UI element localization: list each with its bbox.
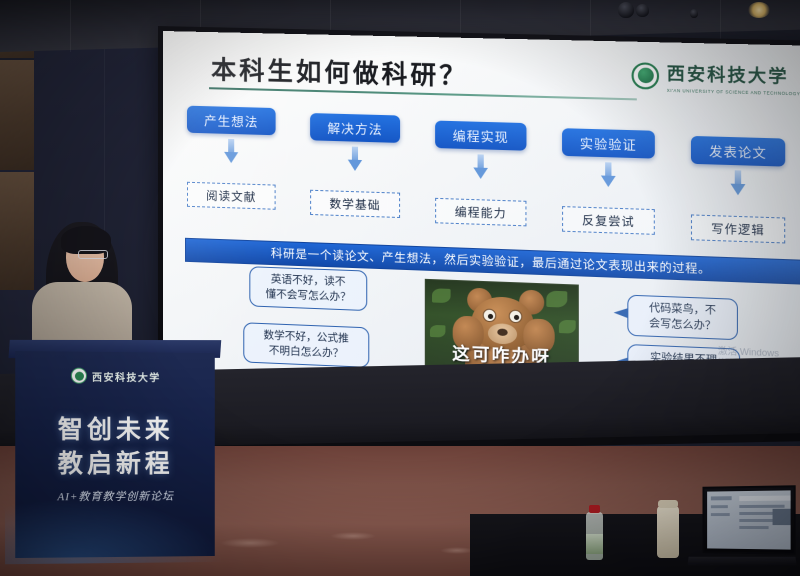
foliage-icon [559, 320, 576, 334]
flow-arrow-icon [601, 162, 616, 187]
podium-banner: 西安科技大学 智创未来 教启新程 AI+教育教学创新论坛 [15, 351, 215, 558]
laptop-screen [702, 485, 795, 555]
ceiling-speaker-icon [636, 4, 649, 17]
ceiling-speaker-icon [618, 2, 634, 18]
flow-arrow-icon [473, 154, 488, 179]
flow-bottom-box: 数学基础 [310, 190, 400, 218]
bubble-english: 英语不好，读不 懂不会写怎么办？ [249, 266, 367, 311]
bottle-cap-icon [589, 505, 600, 513]
slide-title: 本科生如何做科研？ [211, 50, 468, 93]
ceiling-seam [70, 0, 71, 52]
laptop-ui-row [739, 495, 790, 501]
podium-logo-text: 西安科技大学 [92, 368, 161, 384]
thermos-cup [657, 506, 679, 558]
ceiling-speaker-icon [690, 9, 698, 18]
laptop-ui-row [739, 505, 784, 508]
foliage-icon [546, 291, 567, 308]
foliage-icon [432, 288, 451, 303]
podium-headline-2: 教启新程 [15, 444, 215, 480]
podium-headline-1: 智创未来 [15, 410, 215, 447]
podium-university-logo: 西安科技大学 [71, 368, 161, 385]
flow-top-box: 编程实现 [435, 121, 526, 151]
flow-bottom-box: 反复尝试 [562, 206, 655, 235]
laptop-ui-row [711, 496, 732, 500]
laptop-ui-row [739, 526, 768, 529]
bubble-math: 数学不好，公式推 不明白怎么办？ [243, 322, 369, 368]
glasses-icon [78, 250, 108, 259]
flow-bottom-box: 编程能力 [435, 198, 526, 227]
flow-arrow-icon [348, 146, 362, 171]
ceiling-spotlight-icon [748, 2, 770, 18]
xust-seal-icon [632, 62, 660, 89]
bear-eye-icon [509, 310, 523, 324]
flow-top-box: 发表论文 [691, 136, 785, 167]
foliage-icon [430, 325, 445, 338]
laptop-ui-row [773, 509, 791, 525]
bear-nose-icon [497, 328, 507, 336]
bottle-label [586, 534, 603, 554]
podium-wave-graphic [5, 493, 234, 565]
thermos-lid-icon [658, 500, 678, 508]
bear-eye-icon [483, 309, 497, 323]
floor-reflection [330, 532, 376, 540]
flow-bottom-box: 写作逻辑 [691, 214, 785, 243]
flow-top-box: 实验验证 [562, 128, 655, 158]
water-bottle [586, 512, 603, 560]
bubble-line: 懂不会写怎么办？ [256, 287, 360, 306]
presentation-slide: 本科生如何做科研？ 西安科技大学 XI'AN UNIVERSITY OF SCI… [163, 31, 800, 400]
laptop-display [707, 490, 790, 549]
conference-photo: 本科生如何做科研？ 西安科技大学 XI'AN UNIVERSITY OF SCI… [0, 0, 800, 576]
laptop-ui-row [711, 505, 728, 508]
bubble-code: 代码菜鸟，不 会写怎么办？ [627, 295, 738, 341]
flow-arrow-icon [224, 139, 238, 164]
flow-top-box: 解决方法 [310, 113, 400, 143]
logo-name-cn: 西安科技大学 [667, 59, 800, 88]
flow-arrow-icon [730, 170, 745, 195]
flow-top-box: 产生想法 [187, 106, 276, 136]
flow-bottom-box: 阅读文献 [187, 182, 276, 210]
bubble-line: 会写怎么办？ [635, 316, 731, 336]
bubble-tail-icon [614, 307, 629, 318]
university-logo: 西安科技大学 XI'AN UNIVERSITY OF SCIENCE AND T… [632, 58, 800, 96]
floor-reflection [440, 547, 474, 554]
xust-seal-icon [71, 368, 87, 384]
logo-name-en: XI'AN UNIVERSITY OF SCIENCE AND TECHNOLO… [667, 88, 800, 97]
laptop-base [687, 557, 796, 566]
laptop-ui-row [711, 513, 730, 516]
